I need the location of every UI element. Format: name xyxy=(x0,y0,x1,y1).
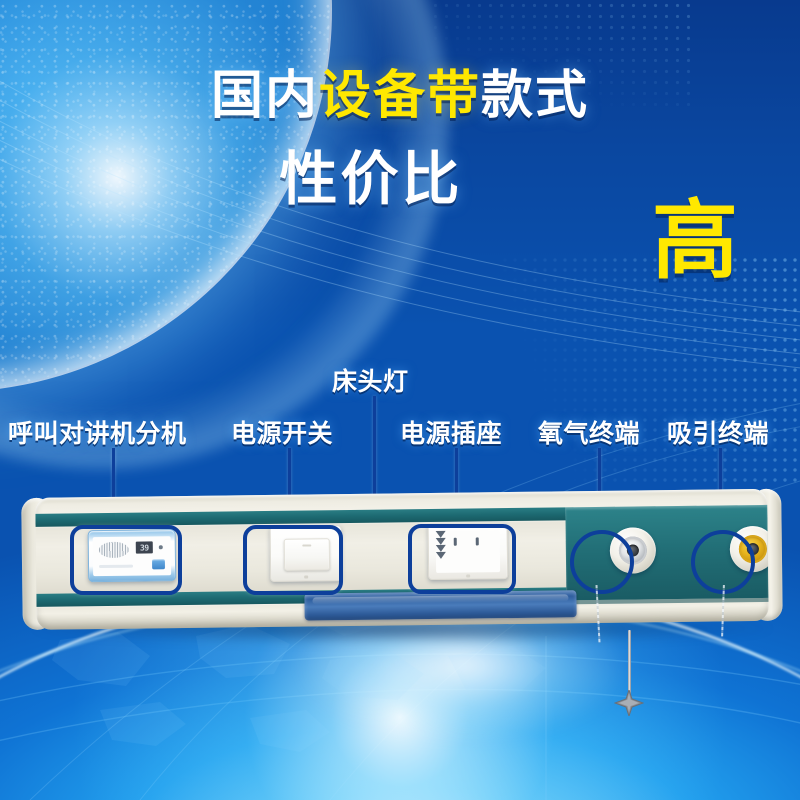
callout-label-suction-outlet: 吸引终端 xyxy=(667,414,769,450)
lamp-gloss-highlight xyxy=(312,594,568,604)
bed-lamp-diffuser[interactable] xyxy=(304,590,576,620)
callout-label-intercom: 呼叫对讲机分机 xyxy=(8,414,187,450)
callout-group: 呼叫对讲机分机 电源开关 床头灯 电源插座 氧气终端 吸引终端 xyxy=(0,0,800,800)
iv-hook-cross-icon xyxy=(614,690,644,716)
highlight-box-power-switch xyxy=(243,525,343,595)
banner-stage: 国内设备带款式 性价比 高 呼叫对讲机分机 电源开关 床头灯 电源插座 氧气终端… xyxy=(0,0,800,800)
callout-label-oxygen-outlet: 氧气终端 xyxy=(538,414,640,450)
highlight-box-power-socket xyxy=(408,524,516,594)
highlight-circle-oxygen xyxy=(570,530,634,594)
iv-hook-rod xyxy=(628,630,631,698)
highlight-box-intercom xyxy=(70,525,182,595)
callout-label-power-socket: 电源插座 xyxy=(400,414,502,450)
callout-label-bed-lamp: 床头灯 xyxy=(332,362,409,398)
callout-label-power-switch: 电源开关 xyxy=(231,414,333,450)
